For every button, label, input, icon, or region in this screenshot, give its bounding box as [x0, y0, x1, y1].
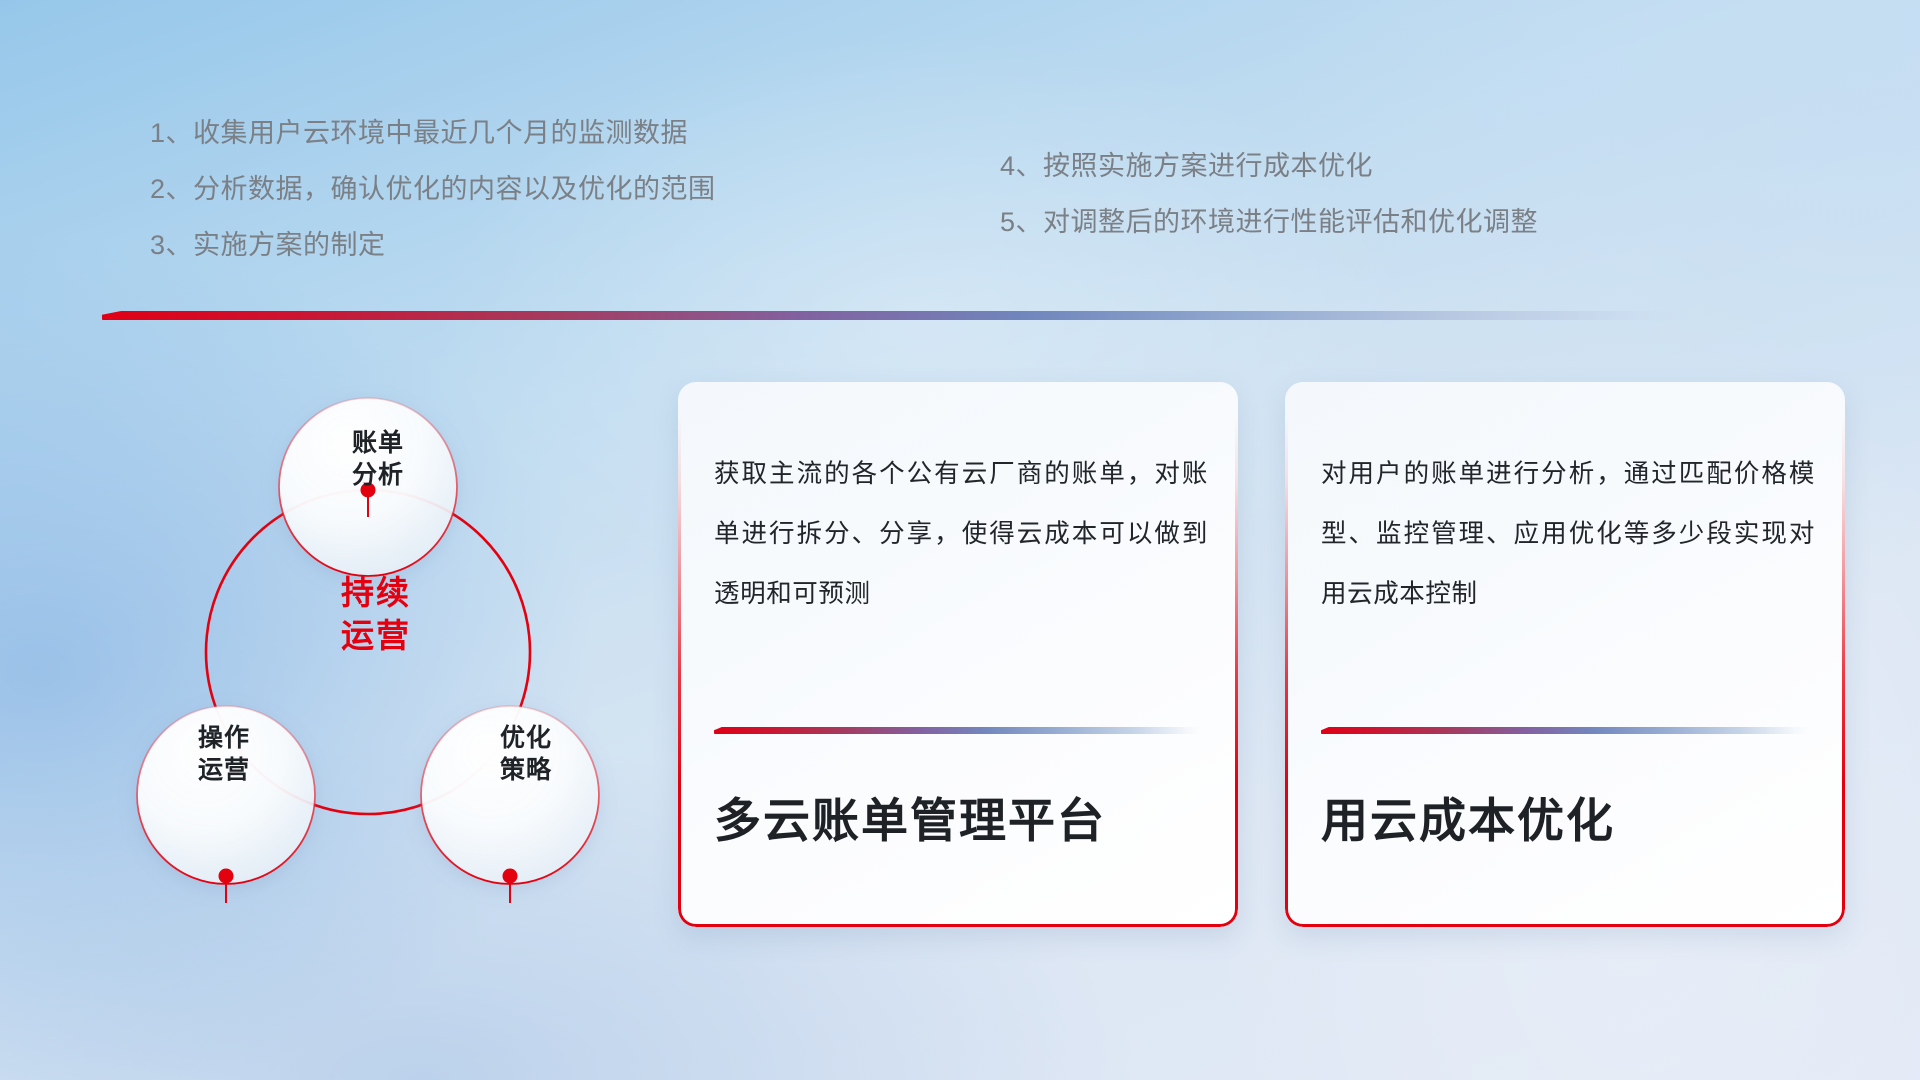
venn-label-operation: 操作 运营 [134, 722, 314, 786]
info-card-cloud-cost-optimization[interactable]: 对用户的账单进行分析，通过匹配价格模型、监控管理、应用优化等多少段实现对用云成本… [1285, 382, 1845, 927]
bullet-list-left: 1、收集用户云环境中最近几个月的监测数据 2、分析数据，确认优化的内容以及优化的… [150, 120, 716, 259]
venn-label-line-1: 操作 [134, 722, 314, 754]
venn-label-line-1: 账单 [288, 427, 468, 459]
card-body-text: 对用户的账单进行分析，通过匹配价格模型、监控管理、应用优化等多少段实现对用云成本… [1321, 444, 1815, 625]
bullet-item-5: 5、对调整后的环境进行性能评估和优化调整 [1000, 209, 1538, 236]
bullet-item-3: 3、实施方案的制定 [150, 232, 716, 259]
slide-canvas: 1、收集用户云环境中最近几个月的监测数据 2、分析数据，确认优化的内容以及优化的… [0, 0, 1920, 1080]
card-body-text: 获取主流的各个公有云厂商的账单，对账单进行拆分、分享，使得云成本可以做到透明和可… [714, 444, 1208, 625]
card-divider [1321, 727, 1809, 734]
card-title: 用云成本优化 [1321, 782, 1815, 851]
bullet-list-right: 4、按照实施方案进行成本优化 5、对调整后的环境进行性能评估和优化调整 [1000, 153, 1538, 236]
venn-label-policy: 优化 策略 [436, 722, 616, 786]
venn-center-label: 持续 运营 [281, 572, 471, 658]
venn-label-line-2: 分析 [288, 459, 468, 491]
section-divider [102, 311, 1692, 320]
card-divider [714, 727, 1202, 734]
bullet-item-4: 4、按照实施方案进行成本优化 [1000, 153, 1538, 180]
venn-diagram: 账单 分析 操作 运营 优化 策略 持续 运营 [96, 352, 656, 952]
venn-label-line-1: 优化 [436, 722, 616, 754]
bullet-item-2: 2、分析数据，确认优化的内容以及优化的范围 [150, 176, 716, 203]
venn-label-line-2: 运营 [134, 754, 314, 786]
venn-center-line-1: 持续 [281, 572, 471, 615]
venn-label-line-2: 策略 [436, 754, 616, 786]
card-title: 多云账单管理平台 [714, 782, 1208, 851]
bullet-item-1: 1、收集用户云环境中最近几个月的监测数据 [150, 120, 716, 147]
info-card-multi-cloud-bill-platform[interactable]: 获取主流的各个公有云厂商的账单，对账单进行拆分、分享，使得云成本可以做到透明和可… [678, 382, 1238, 927]
venn-center-line-2: 运营 [281, 615, 471, 658]
venn-label-bill-analysis: 账单 分析 [288, 427, 468, 491]
